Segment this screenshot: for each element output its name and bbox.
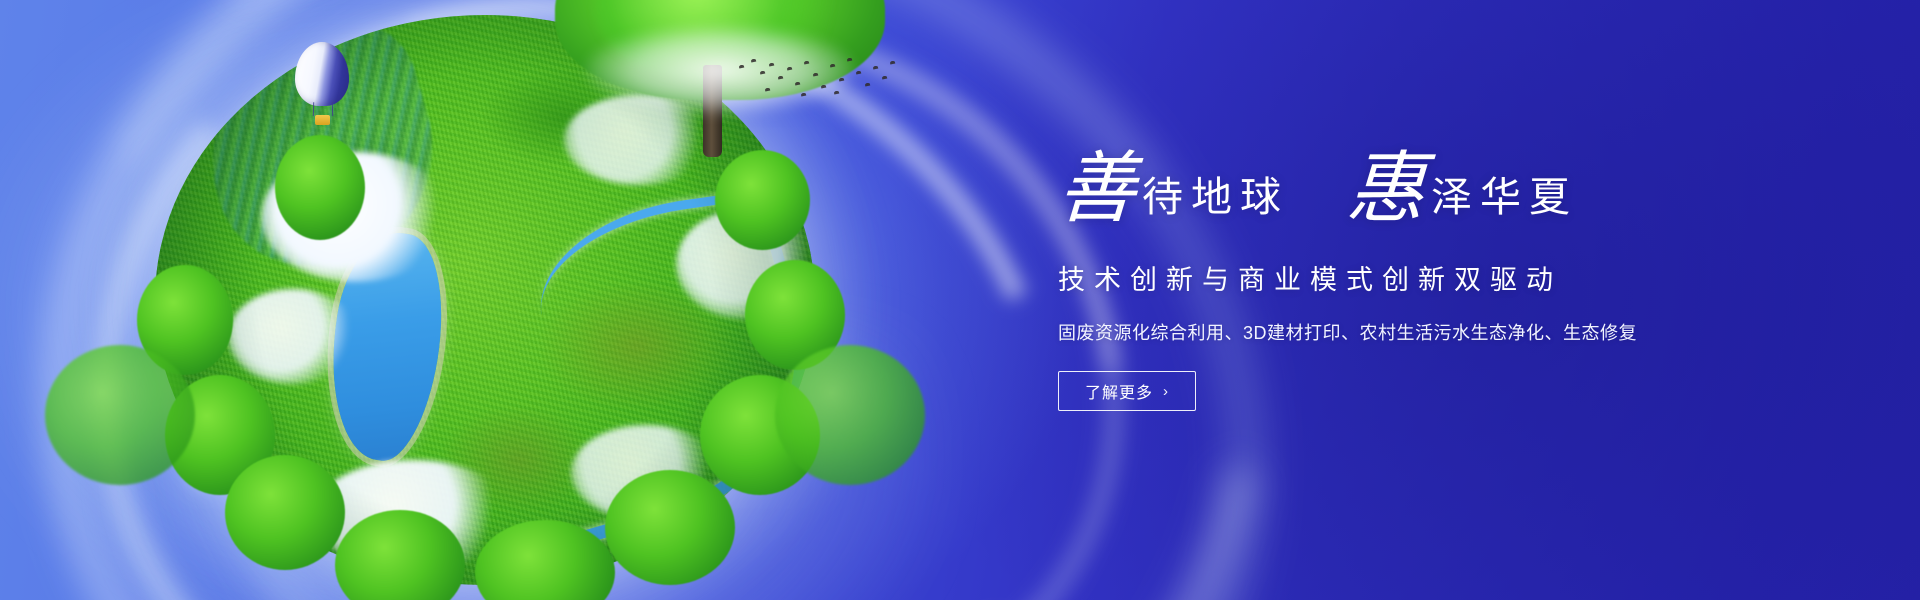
earth-globe-illustration: [155, 15, 815, 585]
headline-lead-char-2: 惠: [1345, 150, 1427, 228]
rim-tree: [715, 150, 810, 250]
headline-group-2: 惠 泽华夏: [1347, 150, 1578, 228]
learn-more-button[interactable]: 了解更多 ›: [1058, 371, 1196, 411]
bird-flock-icon: [735, 55, 900, 103]
rim-tree: [605, 470, 735, 585]
headline-rest-chars-1: 待地球: [1142, 177, 1289, 218]
headline-group-1: 善 待地球: [1058, 150, 1289, 228]
rim-tree: [275, 135, 365, 240]
hero-headline: 善 待地球 惠 泽华夏: [1058, 150, 1758, 228]
silhouette-tree: [775, 345, 925, 485]
hero-subtitle: 技术创新与商业模式创新双驱动: [1058, 258, 1758, 297]
hero-content: 善 待地球 惠 泽华夏 技术创新与商业模式创新双驱动 固废资源化综合利用、3D建…: [1058, 150, 1758, 411]
silhouette-tree: [45, 345, 195, 485]
hot-air-balloon-icon: [295, 42, 349, 128]
balloon-envelope: [295, 42, 349, 106]
hero-description: 固废资源化综合利用、3D建材打印、农村生活污水生态净化、生态修复: [1058, 319, 1758, 345]
headline-lead-char-1: 善: [1056, 150, 1138, 228]
headline-rest-chars-2: 泽华夏: [1431, 177, 1578, 218]
rim-tree: [225, 455, 345, 570]
chevron-right-icon: ›: [1163, 384, 1169, 399]
hero-banner: 善 待地球 惠 泽华夏 技术创新与商业模式创新双驱动 固废资源化综合利用、3D建…: [0, 0, 1920, 600]
learn-more-label: 了解更多: [1085, 379, 1153, 403]
balloon-basket: [315, 115, 330, 125]
